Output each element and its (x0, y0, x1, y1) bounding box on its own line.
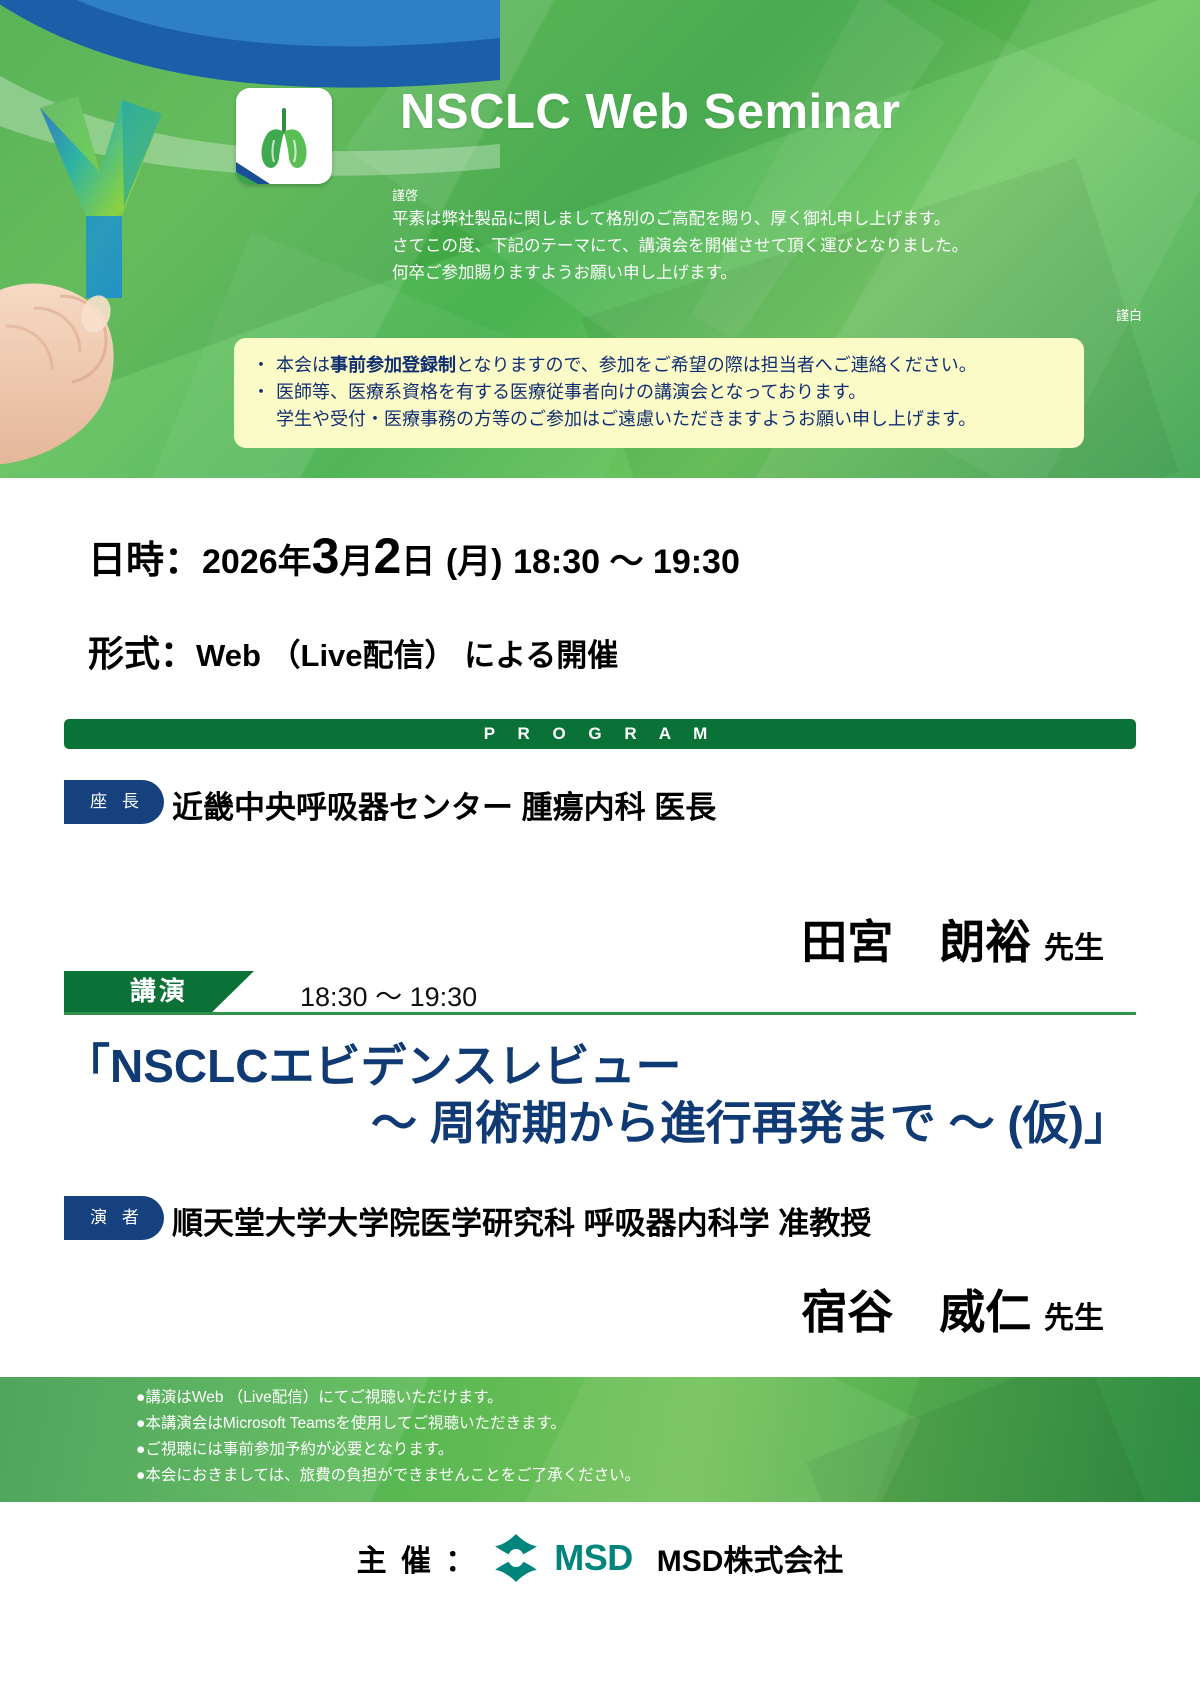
msd-wordmark: MSD (554, 1537, 633, 1579)
lecture-time: 18:30 ～ 19:30 (300, 975, 477, 1014)
msd-logo-icon (494, 1533, 538, 1583)
lecture-title-line-2: ～ 周術期から進行再発まで ～ (仮)」 (64, 1095, 1136, 1152)
lecture-tag: 講演 (64, 971, 254, 1012)
datetime-label: 日時： (88, 540, 202, 582)
chair-affiliation: 近畿中央呼吸器センター 腫瘍内科 医長 (172, 782, 716, 827)
notice-item-1-emphasis: 事前参加登録制 (330, 355, 456, 375)
datetime-day-unit: 日 (401, 543, 435, 581)
lung-icon (236, 88, 332, 184)
greeting-open: 謹啓 (392, 186, 1032, 206)
datetime-line: 日時：2026年3月2日 (月) 18:30 ～ 19:30 (88, 527, 740, 585)
lecture-title: 「NSCLCエビデンスレビュー ～ 周術期から進行再発まで ～ (仮)」 (64, 1038, 1136, 1152)
greeting-line-2: さてこの度、下記のテーマにて、講演会を開催させて頂く運びとなりました。 (392, 233, 1032, 260)
notice-item-2-cont: 学生や受付・医療事務の方等のご参加はご遠慮いただきますようお願い申し上げます。 (250, 406, 1070, 433)
notice-item-1-post: となりますので、参加をご希望の際は担当者へご連絡ください。 (456, 355, 977, 375)
footer-note-1: ●講演はWeb （Live配信）にてご視聴いただけます。 (136, 1385, 996, 1411)
datetime-month-unit: 月 (339, 543, 373, 581)
greeting-line-1: 平素は弊社製品に関しまして格別のご高配を賜り、厚く御礼申し上げます。 (392, 206, 1032, 233)
speaker-affiliation: 順天堂大学大学院医学研究科 呼吸器内科学 准教授 (172, 1198, 871, 1243)
speaker-name: 宿谷 威仁 (801, 1286, 1031, 1338)
header-banner: NSCLC Web Seminar 謹啓 平素は弊社製品に関しまして格別のご高配… (0, 0, 1200, 478)
notice-item-2: 医師等、医療系資格を有する医療従事者向けの講演会となっております。 (250, 379, 1070, 406)
notice-item-1-pre: 本会は (276, 355, 330, 375)
sponsor-company: MSD株式会社 (657, 1536, 844, 1580)
datetime-weekday: (月) (446, 543, 503, 581)
speaker-honorific: 先生 (1044, 1302, 1104, 1335)
format-line: 形式：Web （Live配信） による開催 (88, 625, 618, 677)
footer-note-2: ●本講演会はMicrosoft Teamsを使用してご視聴いただきます。 (136, 1411, 996, 1437)
greeting-line-3: 何卒ご参加賜りますようお願い申し上げます。 (392, 260, 1032, 287)
greeting-close: 謹白 (1116, 305, 1142, 324)
lecture-banner: 講演 18:30 ～ 19:30 (64, 971, 1136, 1019)
footer-notes: ●講演はWeb （Live配信）にてご視聴いただけます。 ●本講演会はMicro… (136, 1385, 996, 1489)
datetime-year: 2026年 (202, 543, 312, 581)
speaker-badge: 演 者 (64, 1196, 164, 1240)
sponsor-label: 主 催 ： (357, 1536, 479, 1580)
notice-box: 本会は事前参加登録制となりますので、参加をご希望の際は担当者へご連絡ください。 … (234, 338, 1084, 448)
format-value: Web （Live配信） による開催 (196, 638, 618, 673)
datetime-time: 18:30 ～ 19:30 (513, 543, 740, 581)
greeting-block: 謹啓 平素は弊社製品に関しまして格別のご高配を賜り、厚く御礼申し上げます。 さて… (392, 186, 1032, 287)
chair-badge: 座 長 (64, 780, 164, 824)
program-banner: P R O G R A M (64, 719, 1136, 749)
page-title: NSCLC Web Seminar (400, 84, 1000, 140)
datetime-day: 2 (373, 528, 401, 584)
lecture-rule (64, 1012, 1136, 1015)
footer-note-3: ●ご視聴には事前参加予約が必要となります。 (136, 1437, 996, 1463)
hand-with-y-crystal-image (0, 40, 250, 478)
sponsor-row: 主 催 ： MSD MSD株式会社 (0, 1528, 1200, 1588)
notice-item-1: 本会は事前参加登録制となりますので、参加をご希望の際は担当者へご連絡ください。 (250, 352, 1070, 379)
lecture-title-line-1: 「NSCLCエビデンスレビュー (64, 1038, 1136, 1095)
chair-name-row: 田宮 朗裕 先生 (801, 906, 1104, 972)
datetime-month: 3 (312, 528, 340, 584)
chair-honorific: 先生 (1044, 932, 1104, 965)
format-label: 形式： (88, 633, 196, 674)
speaker-name-row: 宿谷 威仁 先生 (801, 1276, 1104, 1342)
footer-note-4: ●本会におきましては、旅費の負担ができませんことをご了承ください。 (136, 1463, 996, 1489)
chair-name: 田宮 朗裕 (801, 916, 1031, 968)
